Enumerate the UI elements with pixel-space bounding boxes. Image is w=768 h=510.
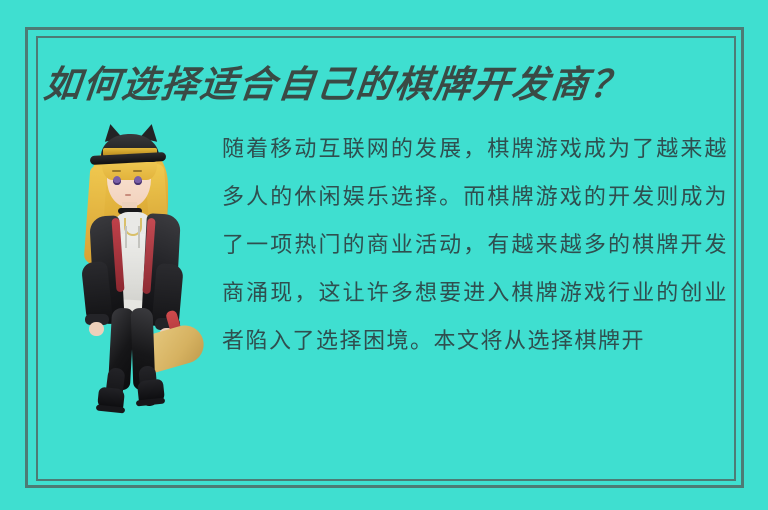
eyebrow-left [112,170,121,172]
hand-left [89,322,104,336]
eye-left [113,176,121,185]
mouth [125,194,131,196]
eye-right [134,176,142,185]
hoodie-drawstring-left [125,226,127,248]
page-title: 如何选择适合自己的棋牌开发商？ [41,56,707,112]
poster-canvas: 如何选择适合自己的棋牌开发商？ [0,0,768,510]
character-illustration [62,122,202,412]
article-body-text: 随着移动互联网的发展，棋牌游戏成为了越来越多人的休闲娱乐选择。而棋牌游戏的开发则… [222,126,728,366]
hoodie-drawstring-right [138,226,140,248]
eyebrow-right [133,170,142,172]
